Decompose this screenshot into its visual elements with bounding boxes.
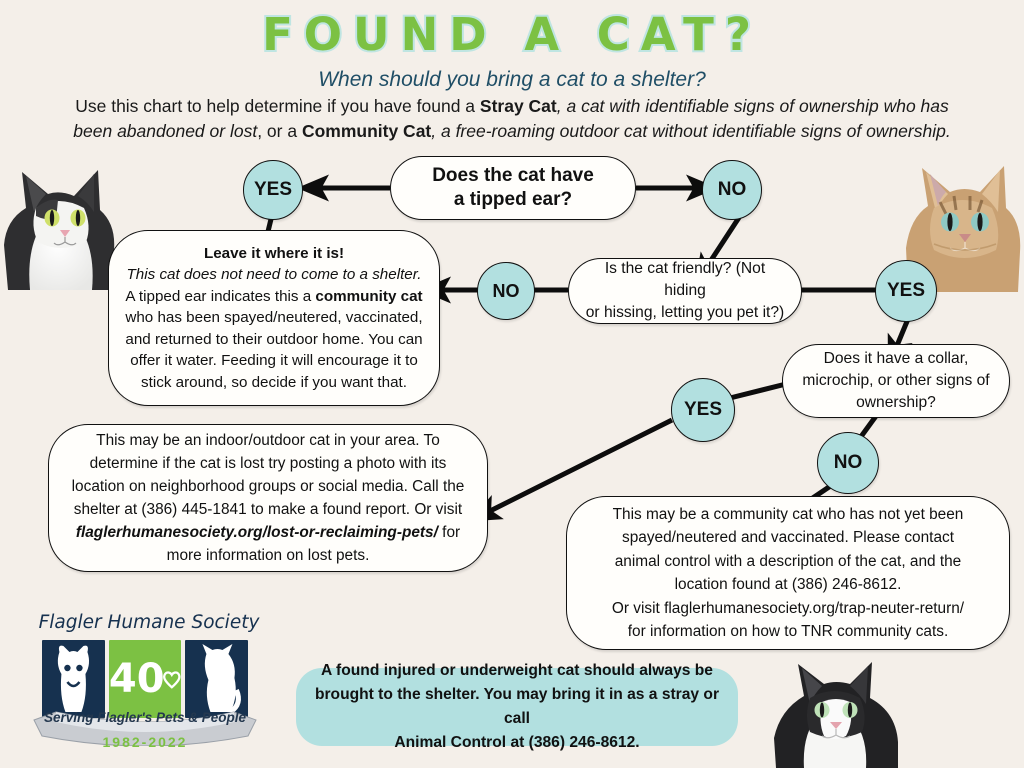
ownership-question-box: Does it have a collar, microchip, or oth… [782, 344, 1010, 418]
intro-line1-a: Use this chart to help determine if you … [75, 96, 480, 116]
indoor-outdoor-body-b: Or visit [414, 501, 462, 518]
community-line6: for information on how to TNR community … [628, 623, 948, 640]
lost-reclaiming-link[interactable]: flaglerhumanesociety.org/lost-or-reclaim… [76, 524, 438, 541]
page-subtitle: When should you bring a cat to a shelter… [0, 68, 1024, 92]
tipped-ear-question-box: Does the cat have a tipped ear? [390, 156, 636, 220]
q3-no-label: NO [834, 452, 863, 474]
tuxedo-cat-photo [0, 150, 118, 290]
banner-line3: Animal Control at (386) 246-8612. [394, 734, 639, 751]
intro-line1-b: , a cat with identifiable signs of owner… [557, 96, 949, 116]
tipped-ear-line1: Does the cat have [432, 165, 594, 186]
q2-no-node: NO [477, 262, 535, 320]
leave-it-body-a: A tipped ear indicates this a [125, 288, 315, 305]
logo-years: 1982-2022 [30, 734, 260, 750]
logo-tagline: Serving Flagler's Pets & People [30, 710, 260, 725]
leave-it-body-b: who has been spayed/neutered, vaccinated… [125, 309, 422, 391]
intro-stray-cat-term: Stray Cat [480, 96, 557, 116]
ownership-line3: ownership? [856, 394, 936, 411]
injured-cat-banner: A found injured or underweight cat shoul… [296, 668, 738, 746]
ownership-line2: microchip, or other signs of [802, 372, 989, 389]
q2-yes-node: YES [875, 260, 937, 322]
tnr-link[interactable]: Or visit flaglerhumanesociety.org/trap-n… [612, 600, 964, 617]
tipped-ear-line2: a tipped ear? [454, 189, 572, 210]
leave-it-community-cat-term: community cat [315, 288, 422, 305]
tuxedo-cat-photo-2 [760, 650, 910, 768]
intro-line2-a: been abandoned or lost [73, 121, 257, 141]
banner-line2: brought to the shelter. You may bring it… [315, 686, 719, 727]
indoor-outdoor-outcome-box: This may be an indoor/outdoor cat in you… [48, 424, 488, 572]
community-line2: spayed/neutered and vaccinated. Please c… [622, 529, 954, 546]
community-line1: This may be a community cat who has not … [613, 506, 964, 523]
intro-community-cat-term: Community Cat [302, 121, 431, 141]
q3-yes-label: YES [684, 399, 722, 421]
flagler-humane-society-logo: Flagler Humane Society 40 [30, 612, 260, 762]
q2-yes-label: YES [887, 280, 925, 302]
q3-no-node: NO [817, 432, 879, 494]
q1-no-node: NO [702, 160, 762, 220]
q1-no-label: NO [718, 179, 747, 201]
q1-yes-label: YES [254, 179, 292, 201]
q3-yes-node: YES [671, 378, 735, 442]
friendly-line2: or hissing, letting you pet it?) [586, 304, 785, 321]
intro-line2-c: , a free-roaming outdoor cat without ide… [431, 121, 950, 141]
q1-yes-node: YES [243, 160, 303, 220]
infographic-canvas: FOUND A CAT? When should you bring a cat… [0, 0, 1024, 768]
community-line3: animal control with a description of the… [615, 553, 962, 570]
leave-it-body: A tipped ear indicates this a community … [125, 286, 423, 394]
page-title: FOUND A CAT? [0, 8, 1024, 61]
intro-line2-b: , or a [257, 121, 302, 141]
leave-it-italic: This cat does not need to come to a shel… [125, 264, 423, 286]
community-line4: location found at (386) 246-8612. [675, 576, 902, 593]
ownership-line1: Does it have a collar, [824, 350, 969, 367]
leave-it-heading: Leave it where it is! [125, 243, 423, 265]
logo-40-number: 40 [109, 656, 165, 702]
logo-org-name: Flagler Humane Society [38, 612, 260, 633]
indoor-outdoor-body-a: This may be an indoor/outdoor cat in you… [72, 432, 465, 518]
community-cat-outcome-box: This may be a community cat who has not … [566, 496, 1010, 650]
friendly-line1: Is the cat friendly? (Not hiding [605, 260, 765, 299]
leave-it-outcome-box: Leave it where it is! This cat does not … [108, 230, 440, 406]
intro-paragraph: Use this chart to help determine if you … [10, 94, 1014, 144]
heart-icon [162, 666, 182, 692]
q2-no-label: NO [493, 281, 520, 302]
banner-line1: A found injured or underweight cat shoul… [321, 662, 713, 679]
friendly-question-box: Is the cat friendly? (Not hiding or hiss… [568, 258, 802, 324]
